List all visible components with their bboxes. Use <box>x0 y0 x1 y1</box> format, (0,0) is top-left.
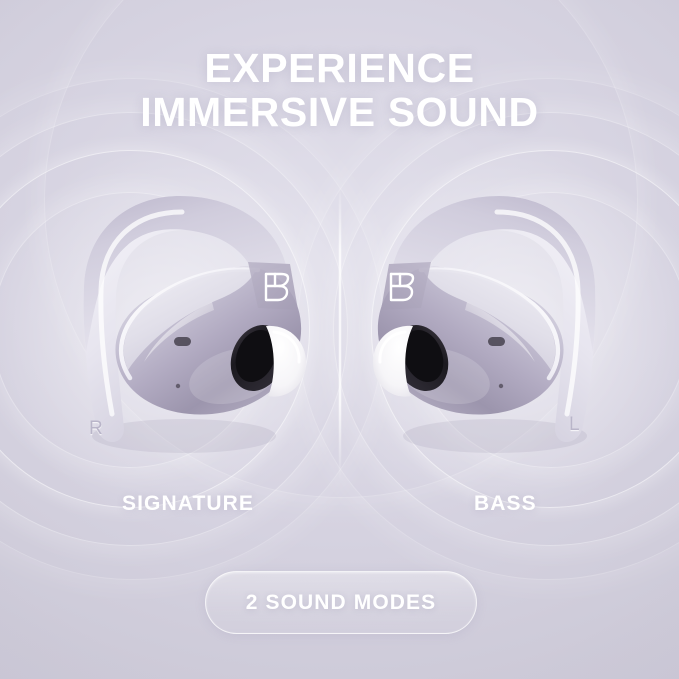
headline-line-2: IMMERSIVE SOUND <box>0 90 679 134</box>
mic-slot-icon <box>174 337 191 346</box>
promo-image-canvas: EXPERIENCE IMMERSIVE SOUND <box>0 0 679 679</box>
page-title: EXPERIENCE IMMERSIVE SOUND <box>0 46 679 135</box>
channel-mark-left-ear: L <box>569 414 580 436</box>
sound-modes-badge: 2 SOUND MODES <box>205 571 477 634</box>
headline-line-1: EXPERIENCE <box>0 46 679 90</box>
sensor-pin <box>176 384 180 388</box>
mode-label-bass: BASS <box>474 492 537 516</box>
sensor-pin <box>499 384 503 388</box>
mic-slot-icon <box>488 337 505 346</box>
vertical-divider <box>339 185 341 481</box>
mode-label-signature: SIGNATURE <box>122 492 254 516</box>
channel-mark-right-ear: R <box>89 418 103 440</box>
sound-modes-badge-label: 2 SOUND MODES <box>246 591 437 615</box>
